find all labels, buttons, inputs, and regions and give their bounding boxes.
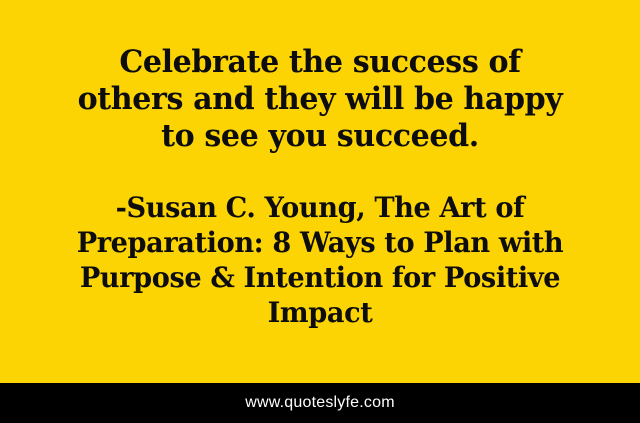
quote-card: Celebrate the success of others and they…: [0, 0, 640, 423]
quote-text: Celebrate the success of others and they…: [70, 44, 571, 156]
quote-attribution: -Susan C. Young, The Art of Preparation:…: [70, 190, 571, 331]
site-footer: www.quoteslyfe.com: [0, 383, 640, 423]
footer-website-url[interactable]: www.quoteslyfe.com: [245, 395, 394, 411]
quote-card-body: Celebrate the success of others and they…: [0, 0, 640, 383]
